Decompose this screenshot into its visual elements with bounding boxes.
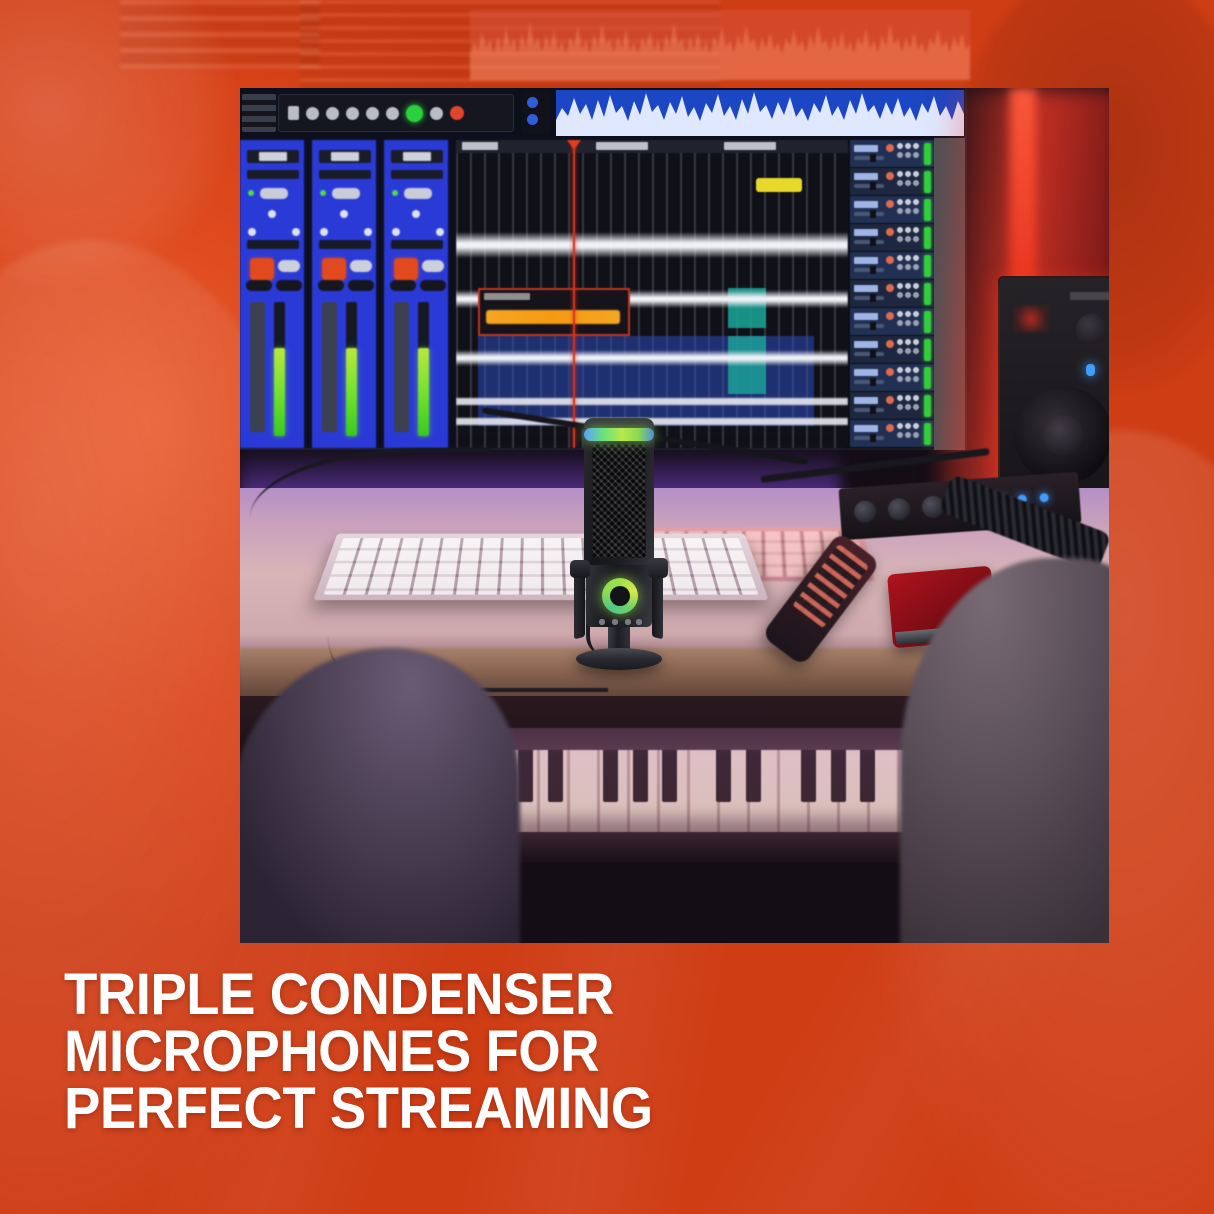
track-row <box>850 280 934 308</box>
microphone-yoke-arm-right <box>652 571 663 640</box>
speaker-tweeter <box>1076 314 1106 344</box>
speaker-woofer <box>1014 386 1109 484</box>
daw-side-buttons <box>522 92 550 134</box>
microphone-base <box>576 648 662 670</box>
headline: TRIPLE CONDENSER MICROPHONES FOR PERFECT… <box>64 966 910 1137</box>
daw-overview-waveform <box>556 90 964 136</box>
channel-fader <box>322 302 337 432</box>
track-row <box>850 420 934 448</box>
daw-track-list <box>850 140 934 448</box>
track-row <box>850 140 934 168</box>
track-row <box>850 252 934 280</box>
channel-level-meter <box>346 348 357 436</box>
timeline-playhead <box>573 140 575 448</box>
channel-fader <box>250 302 265 432</box>
mixer-channel-strip <box>240 140 306 448</box>
timeline-marker-clip <box>756 178 802 192</box>
microphone-mount-knob-left <box>570 560 590 578</box>
track-row <box>850 168 934 196</box>
track-row <box>850 224 934 252</box>
computer-monitor <box>240 88 965 448</box>
microphone-grille <box>592 444 646 558</box>
toolbar-icon-1 <box>288 106 299 120</box>
speaker-brand-text <box>1070 292 1109 300</box>
microphone-rgb-top-ring <box>584 428 654 441</box>
channel-record-button <box>250 258 274 280</box>
computer-keyboard <box>313 534 768 601</box>
background-waveform <box>470 10 970 80</box>
headline-line-3: PERFECT STREAMING <box>64 1080 910 1137</box>
track-row <box>850 308 934 336</box>
overview-waveform-svg <box>556 90 964 136</box>
toolbar-icon-6 <box>386 107 399 120</box>
timeline-audio-waveform <box>456 398 848 405</box>
daw-transport-left-buttons <box>242 94 276 132</box>
microphone-control-buttons <box>598 618 642 627</box>
toolbar-record-icon <box>450 106 464 120</box>
channel-record-button <box>394 258 418 280</box>
toolbar-icon-5 <box>366 107 379 120</box>
microphone-yoke-arm-left <box>574 571 585 640</box>
timeline-audio-waveform <box>456 232 848 258</box>
microphone-mount-knob-right <box>648 558 668 578</box>
channel-record-button <box>322 258 346 280</box>
toolbar-icon-2 <box>306 107 319 120</box>
daw-toolbar <box>278 94 514 132</box>
toolbar-icon-3 <box>326 107 339 120</box>
headline-line-1: TRIPLE CONDENSER <box>64 966 910 1023</box>
track-row <box>850 392 934 420</box>
toolbar-play-icon <box>406 105 423 122</box>
toolbar-icon-4 <box>346 107 359 120</box>
usb-condenser-microphone <box>558 410 678 670</box>
daw-timeline <box>456 140 848 448</box>
toolbar-icon-7 <box>430 107 443 120</box>
timeline-ruler <box>456 140 848 153</box>
track-row <box>850 336 934 364</box>
channel-level-meter <box>418 348 429 436</box>
person-left-shoulder <box>240 648 520 943</box>
headline-line-2: MICROPHONES FOR <box>64 1023 910 1080</box>
track-row <box>850 364 934 392</box>
daw-mixer <box>240 140 454 448</box>
channel-level-meter <box>274 348 285 436</box>
mixer-channel-strip <box>312 140 378 448</box>
timeline-selected-clip <box>478 288 630 336</box>
timeline-audio-waveform <box>456 350 848 366</box>
speaker-logo <box>1014 306 1048 332</box>
speaker-power-led <box>1086 364 1095 376</box>
channel-fader <box>394 302 409 432</box>
product-lifestyle-photo <box>240 88 1109 943</box>
mixer-channel-strip <box>384 140 450 448</box>
track-row <box>850 196 934 224</box>
microphone-rgb-gain-ring <box>602 578 638 614</box>
